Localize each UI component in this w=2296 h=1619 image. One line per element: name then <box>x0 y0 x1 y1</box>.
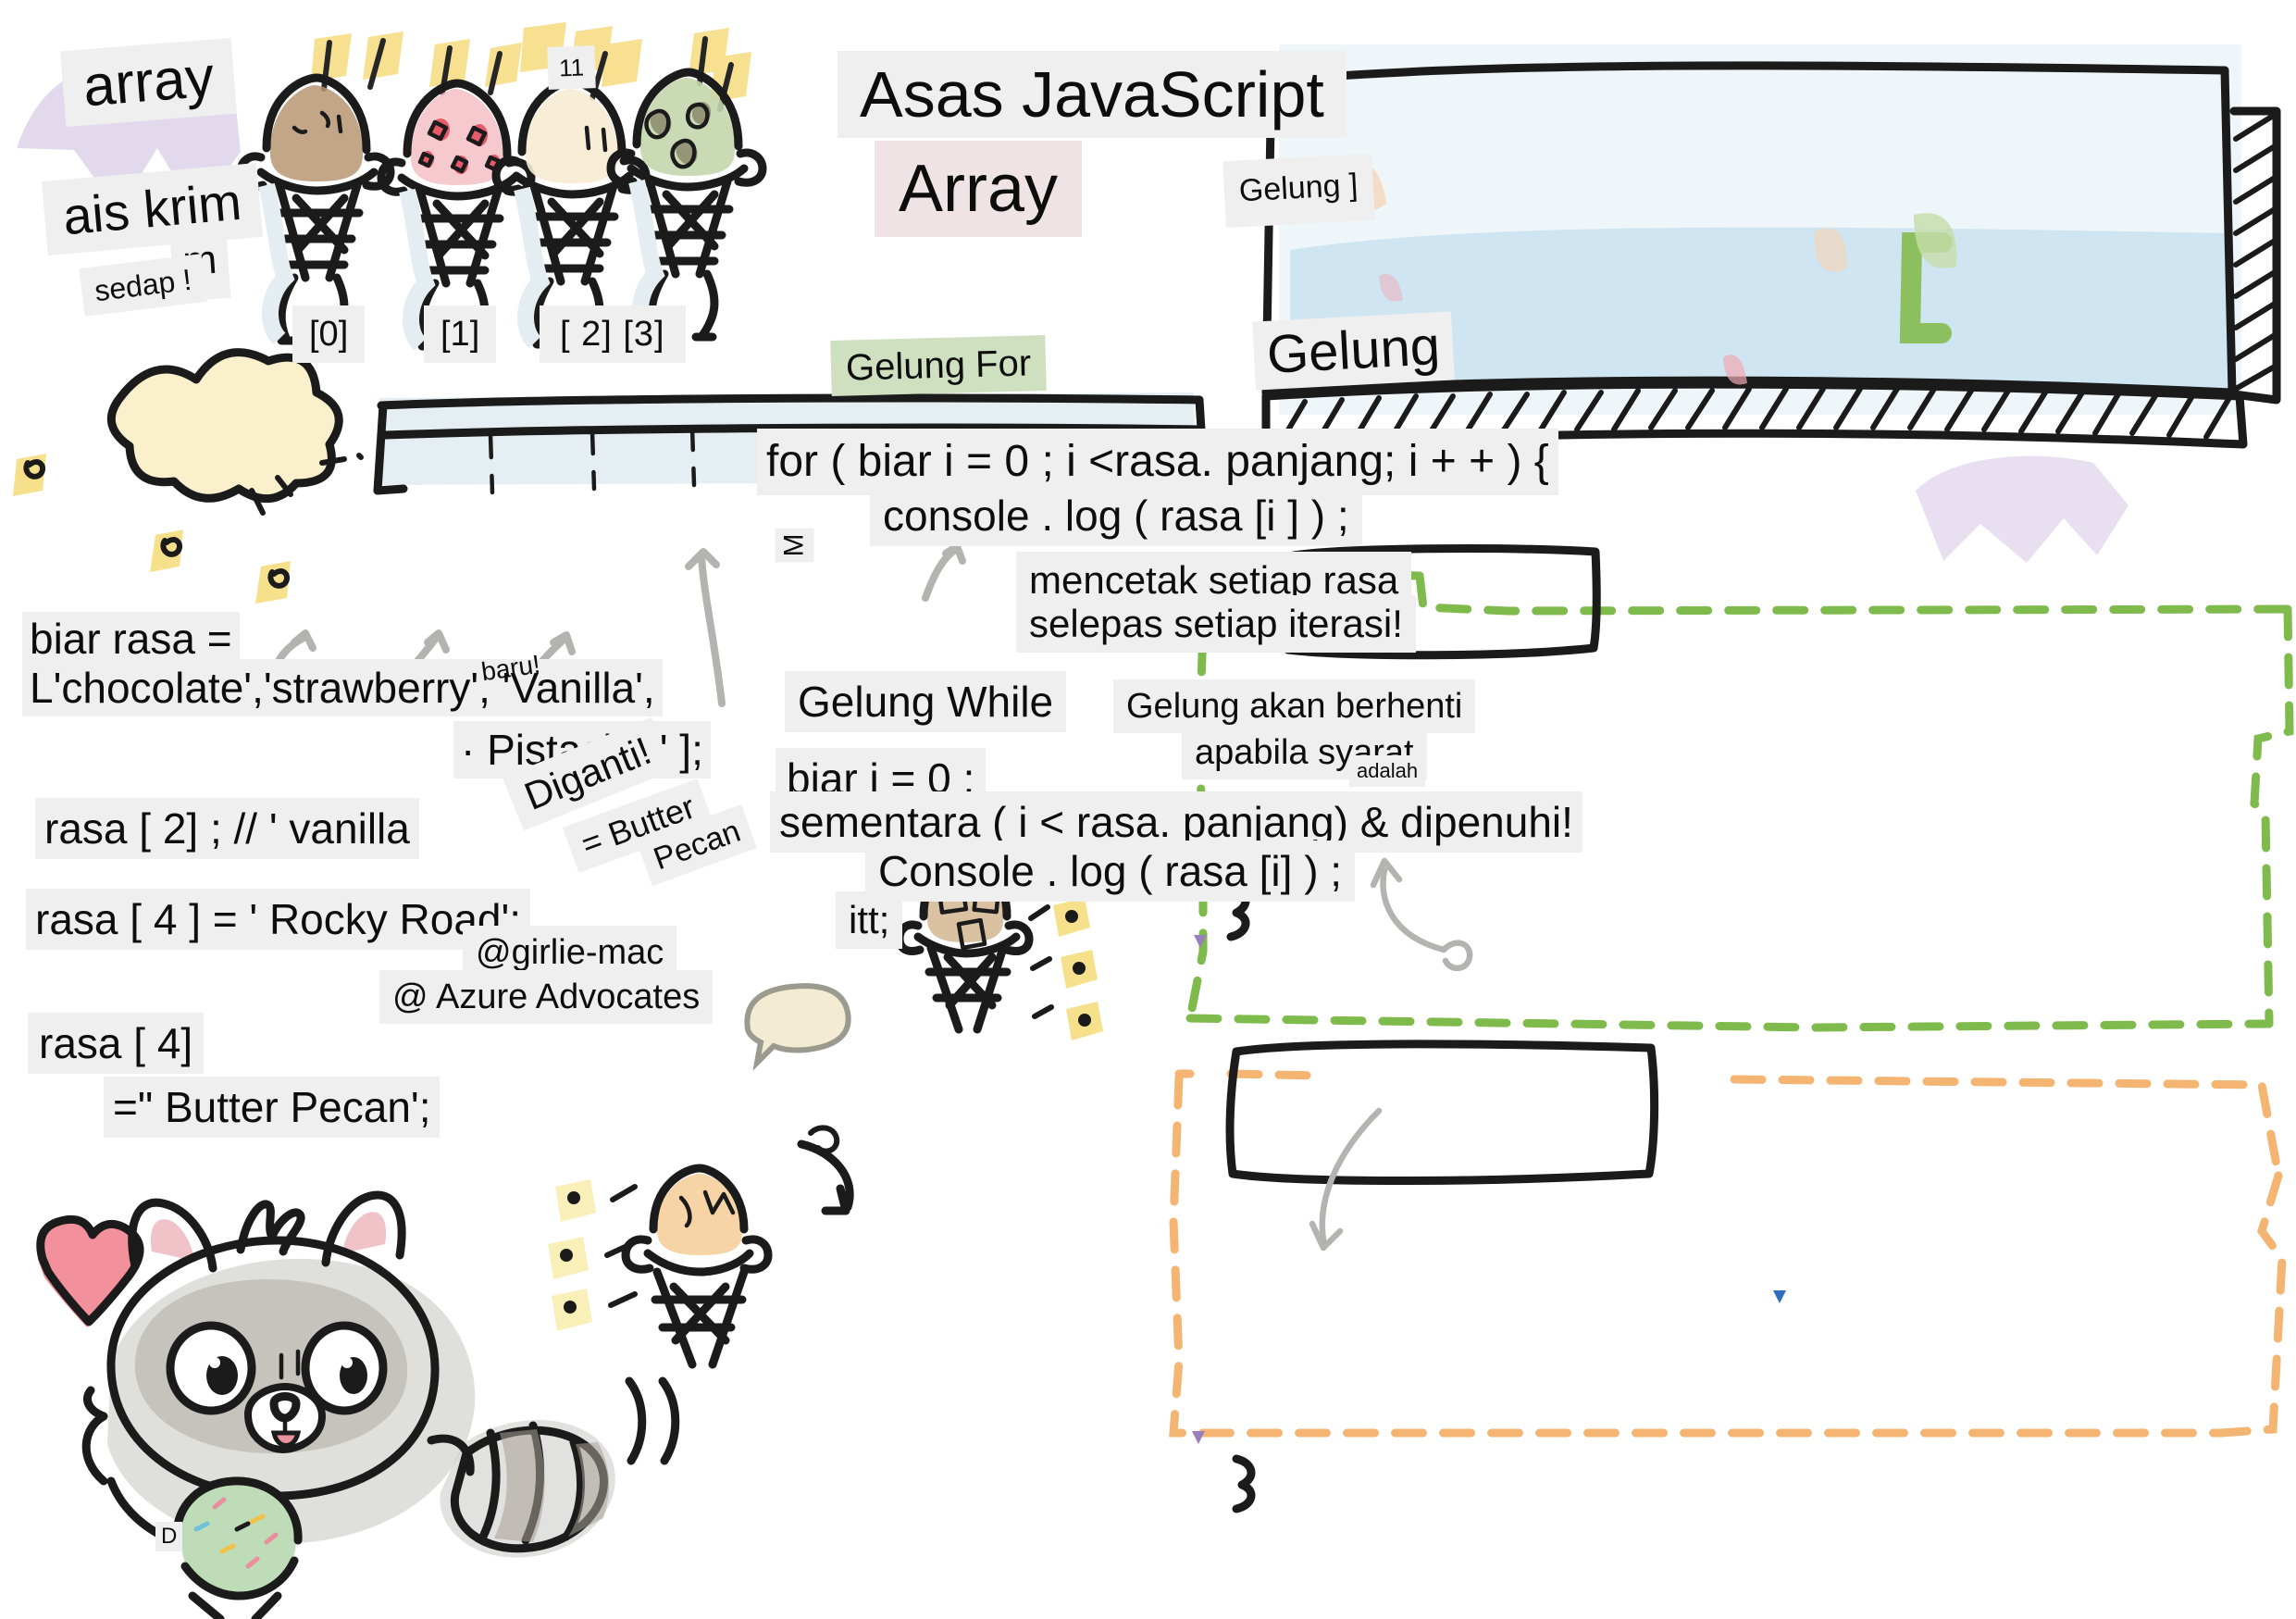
while-loop-code-line-3: Console . log ( rasa [i] ) ; <box>865 841 1355 902</box>
raccoon-illustration <box>86 1195 615 1619</box>
title-board <box>1266 44 2277 446</box>
badge-gelung-while: Gelung While <box>785 671 1066 732</box>
gelung-while-label-box <box>1230 1044 1655 1181</box>
code-line-butter-pecan: =" Butter Pecan'; <box>104 1077 440 1138</box>
title-line-2: Array <box>875 141 1082 237</box>
sketchnote-canvas: .ink { fill:none; stroke:#1b1b1b; stroke… <box>0 0 2296 1619</box>
while-loop-note-line-3: adalah <box>1349 755 1425 787</box>
array-index-2-3: [ 2] [3] <box>540 305 686 363</box>
label-array: array <box>60 38 237 127</box>
label-11: 11 <box>547 45 596 90</box>
code-line-array-values: L'chocolate','strawberry', 'Vanilla', <box>22 659 663 716</box>
code-line-rasa-4: rasa [ 4] <box>28 1013 204 1074</box>
right-arrows <box>1312 861 1470 1248</box>
cone-chocolate <box>241 78 391 341</box>
title-bracket-label: Gelung ] <box>1222 154 1374 228</box>
for-loop-note-line-2: selepas setiap iterasi! <box>1016 595 1416 653</box>
array-index-0: [0] <box>292 305 365 363</box>
thought-cloud <box>13 353 361 604</box>
sticker-d: D <box>155 1522 182 1551</box>
credit-org: @ Azure Advocates <box>379 970 713 1024</box>
for-loop-closing-marker: M <box>776 529 814 563</box>
for-loop-code-line-2: console . log ( rasa [i ] ) ; <box>870 485 1362 546</box>
title-line-1: Asas JavaScript <box>838 51 1347 138</box>
section-header-gelung: Gelung <box>1252 311 1455 390</box>
badge-gelung-for: Gelung For <box>830 335 1047 396</box>
array-index-1: [1] <box>424 305 496 363</box>
purple-wash-gelung <box>1916 456 2128 563</box>
code-line-assign-index-4: rasa [ 4 ] = ' Rocky Road'; <box>26 889 530 950</box>
while-loop-code-line-4: itt; <box>836 891 902 949</box>
ice-cream-melting <box>548 1127 850 1461</box>
while-loop-dashed-box <box>1173 1074 2282 1433</box>
cone-pistachio <box>611 72 763 337</box>
code-line-declare: biar rasa = <box>22 612 240 666</box>
code-line-access-index-2: rasa [ 2] ; // ' vanilla <box>35 798 419 859</box>
